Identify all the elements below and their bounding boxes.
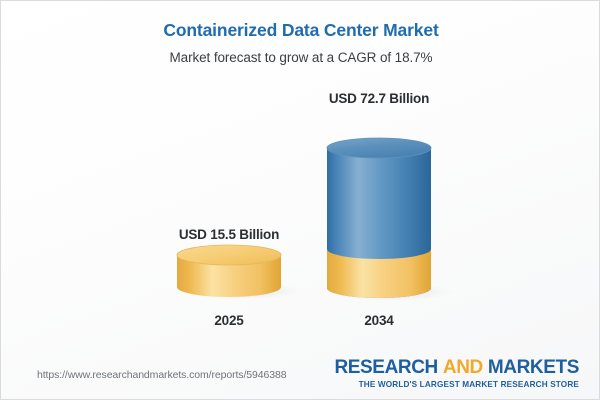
logo-word-markets: MARKETS bbox=[488, 357, 579, 378]
logo-tagline: THE WORLD'S LARGEST MARKET RESEARCH STOR… bbox=[334, 379, 579, 390]
logo-wordmark: RESEARCHANDMARKETS bbox=[334, 357, 579, 378]
report-url-link[interactable]: https://www.researchandmarkets.com/repor… bbox=[37, 369, 286, 381]
bar-cylinder-2034-svg bbox=[299, 108, 459, 300]
bar-cylinder-2025[interactable] bbox=[149, 244, 309, 300]
bar-group-2025: USD 15.5 Billion bbox=[149, 226, 309, 330]
bar-group-2034: USD 72.7 Billion bbox=[299, 90, 459, 330]
bar-category-label-2025: 2025 bbox=[149, 312, 309, 330]
bar-cylinder-2034[interactable] bbox=[299, 108, 459, 300]
chart-plot-area: USD 15.5 Billion bbox=[1, 1, 600, 346]
bar-value-label-2034: USD 72.7 Billion bbox=[299, 90, 459, 108]
research-and-markets-logo[interactable]: RESEARCHANDMARKETS THE WORLD'S LARGEST M… bbox=[334, 357, 579, 390]
infographic-card: Containerized Data Center Market Market … bbox=[0, 0, 600, 400]
logo-word-and: AND bbox=[443, 357, 483, 378]
bar-cylinder-2025-svg bbox=[149, 244, 309, 300]
bar-value-label-2025: USD 15.5 Billion bbox=[149, 226, 309, 244]
logo-word-research: RESEARCH bbox=[334, 357, 437, 378]
bar-category-label-2034: 2034 bbox=[299, 312, 459, 330]
chart-footer: https://www.researchandmarkets.com/repor… bbox=[1, 347, 600, 399]
